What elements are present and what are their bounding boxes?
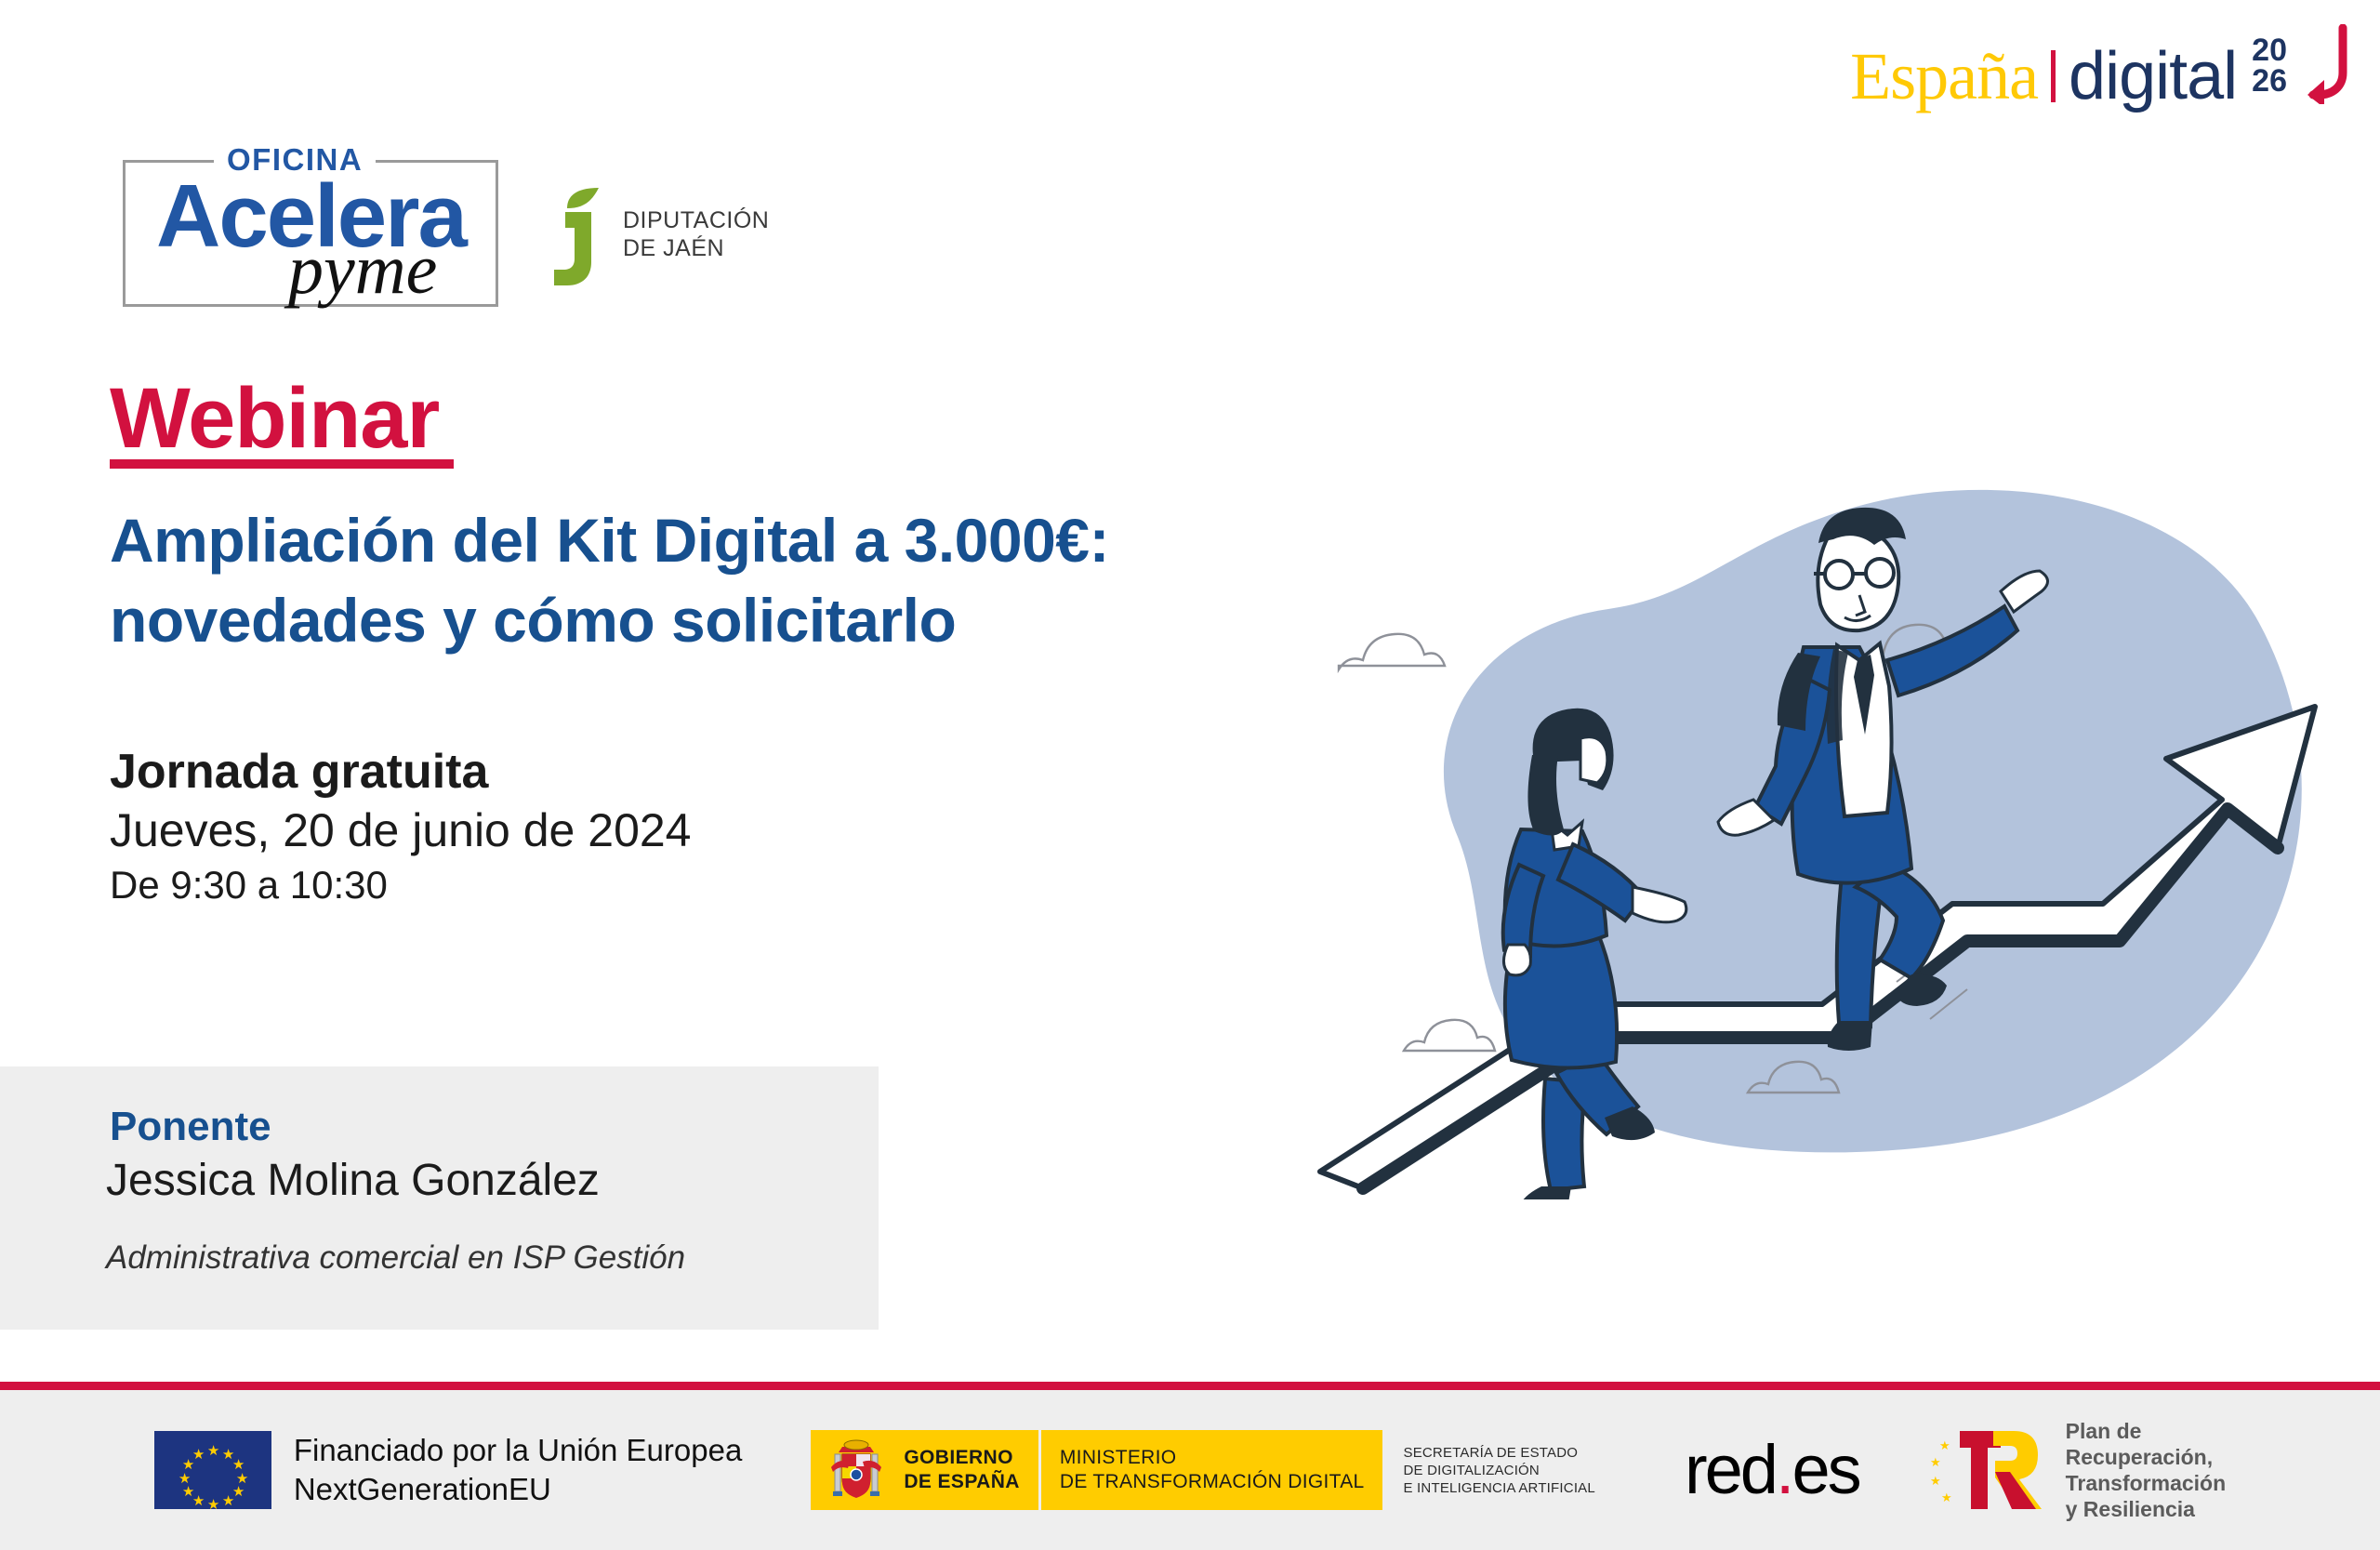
footer: ★ ★ ★ ★ ★ ★ ★ ★ ★ ★ ★ ★ Financiado por l…	[0, 1390, 2380, 1550]
speaker-name: Jessica Molina González	[106, 1153, 600, 1209]
redes-dot: .	[1776, 1431, 1792, 1508]
speaker-label: Ponente	[110, 1102, 271, 1152]
page-title: Ampliación del Kit Digital a 3.000€: nov…	[110, 500, 1337, 660]
diputacion-jaen-text: DIPUTACIÓN DE JAÉN	[623, 206, 769, 262]
eu-flag-icon: ★ ★ ★ ★ ★ ★ ★ ★ ★ ★ ★ ★	[154, 1431, 271, 1509]
diputacion-line-2: DE JAÉN	[623, 234, 769, 262]
redes-logo: red.es	[1685, 1436, 1859, 1504]
espana-digital-digital: digital	[2069, 43, 2237, 110]
prtr-emblem-icon: ★★ ★★	[1928, 1424, 2049, 1517]
espana-digital-logo: España digital 20 26	[1850, 35, 2287, 110]
event-time: De 9:30 a 10:30	[110, 860, 388, 910]
return-arrow-icon	[2304, 24, 2352, 104]
ministerio-block: MINISTERIO DE TRANSFORMACIÓN DIGITAL	[1041, 1430, 1383, 1510]
ministerio-text: MINISTERIO DE TRANSFORMACIÓN DIGITAL	[1060, 1446, 1365, 1494]
secretaria-block: SECRETARÍA DE ESTADO DE DIGITALIZACIÓN E…	[1382, 1430, 1615, 1510]
webinar-underline	[110, 459, 454, 469]
eu-funding-line-2: NextGenerationEU	[294, 1470, 742, 1509]
espana-digital-year-top: 20	[2252, 35, 2287, 66]
prtr-text: Plan de Recuperación, Transformación y R…	[2066, 1418, 2227, 1522]
prtr-line-2: Recuperación,	[2066, 1444, 2227, 1470]
svg-text:★: ★	[1941, 1490, 1952, 1504]
svg-text:★: ★	[1930, 1474, 1941, 1488]
eu-funding-text: Financiado por la Unión Europea NextGene…	[294, 1431, 742, 1509]
secretaria-line-3: E INTELIGENCIA ARTIFICIAL	[1403, 1479, 1594, 1497]
page-title-line-2: novedades y cómo solicitarlo	[110, 580, 1337, 660]
diputacion-line-1: DIPUTACIÓN	[623, 206, 769, 234]
gobierno-text: GOBIERNO DE ESPAÑA	[904, 1446, 1020, 1494]
hero-illustration	[1302, 428, 2343, 1199]
poster-canvas: OFICINA Acelera pyme DIPUTACIÓN DE JAÉN …	[0, 0, 2380, 1550]
secretaria-line-2: DE DIGITALIZACIÓN	[1403, 1462, 1594, 1479]
webinar-kicker: Webinar	[110, 372, 439, 465]
jaen-j-leaf-icon	[549, 188, 606, 285]
ministerio-line-1: MINISTERIO	[1060, 1446, 1365, 1470]
svg-text:★: ★	[1930, 1455, 1941, 1469]
eu-funding-logo: ★ ★ ★ ★ ★ ★ ★ ★ ★ ★ ★ ★ Financiado por l…	[154, 1431, 742, 1509]
espana-digital-divider	[2051, 50, 2056, 102]
gobierno-ministerio-logo: GOBIERNO DE ESPAÑA MINISTERIO DE TRANSFO…	[811, 1430, 1616, 1510]
eu-funding-line-1: Financiado por la Unión Europea	[294, 1431, 742, 1470]
prtr-line-4: y Resiliencia	[2066, 1496, 2227, 1522]
espana-digital-espana: España	[1850, 43, 2038, 110]
growth-teamwork-illustration	[1302, 428, 2343, 1199]
event-date: Jueves, 20 de junio de 2024	[110, 801, 692, 859]
speaker-role: Administrativa comercial en ISP Gestión	[106, 1237, 685, 1279]
redes-part-2: es	[1792, 1431, 1858, 1508]
secretaria-line-1: SECRETARÍA DE ESTADO	[1403, 1444, 1594, 1462]
spain-coat-of-arms-icon	[829, 1437, 883, 1503]
espana-digital-year-bottom: 26	[2252, 66, 2287, 97]
secretaria-text: SECRETARÍA DE ESTADO DE DIGITALIZACIÓN E…	[1403, 1444, 1594, 1497]
redes-part-1: red	[1685, 1431, 1776, 1508]
page-title-line-1: Ampliación del Kit Digital a 3.000€:	[110, 500, 1337, 580]
diputacion-jaen-logo: DIPUTACIÓN DE JAÉN	[549, 167, 827, 288]
svg-text:★: ★	[1939, 1438, 1950, 1452]
footer-divider	[0, 1382, 2380, 1390]
prtr-line-1: Plan de	[2066, 1418, 2227, 1444]
gobierno-line-2: DE ESPAÑA	[904, 1470, 1020, 1494]
gobierno-de-espana-block: GOBIERNO DE ESPAÑA	[811, 1430, 1038, 1510]
plan-recuperacion-logo: ★★ ★★ Plan de Recuperación, Transformaci…	[1928, 1418, 2227, 1522]
ministerio-line-2: DE TRANSFORMACIÓN DIGITAL	[1060, 1470, 1365, 1494]
espana-digital-year: 20 26	[2252, 35, 2287, 97]
acelera-pyme-wordmark: pyme	[288, 234, 437, 305]
prtr-line-3: Transformación	[2066, 1470, 2227, 1496]
gobierno-line-1: GOBIERNO	[904, 1446, 1020, 1470]
free-session-label: Jornada gratuita	[110, 742, 488, 801]
